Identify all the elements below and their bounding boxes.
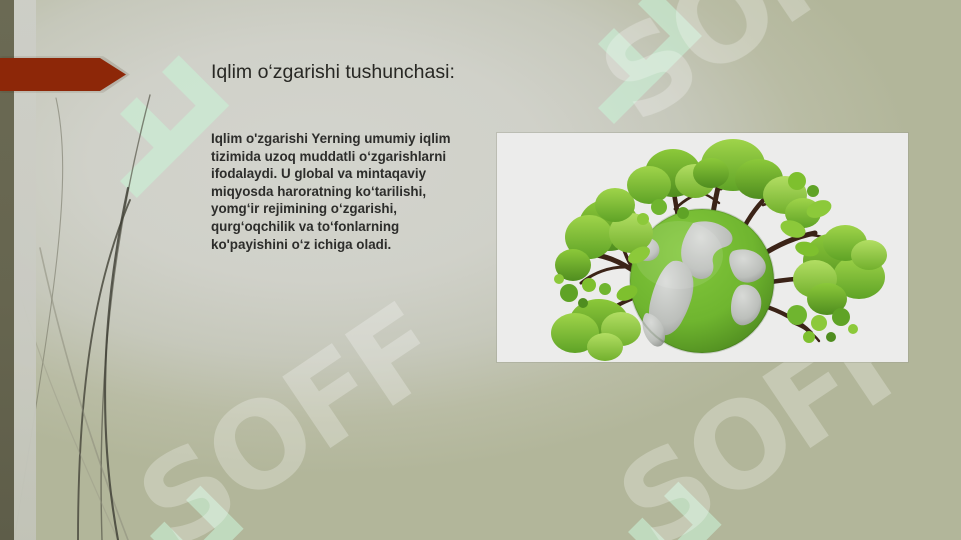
presentation-slide: SOFF SOFF SOFF Iqlim o‘zgarishi tushunch… bbox=[0, 0, 961, 540]
green-earth-image bbox=[497, 133, 908, 362]
svg-text:SOFF: SOFF bbox=[576, 0, 924, 149]
page-title: Iqlim o‘zgarishi tushunchasi: bbox=[211, 60, 486, 85]
body-paragraph: Iqlim o'zgarishi Yerning umumiy iqlim ti… bbox=[211, 130, 469, 253]
green-earth-illustration bbox=[497, 133, 908, 362]
red-arrow-banner bbox=[0, 58, 126, 91]
